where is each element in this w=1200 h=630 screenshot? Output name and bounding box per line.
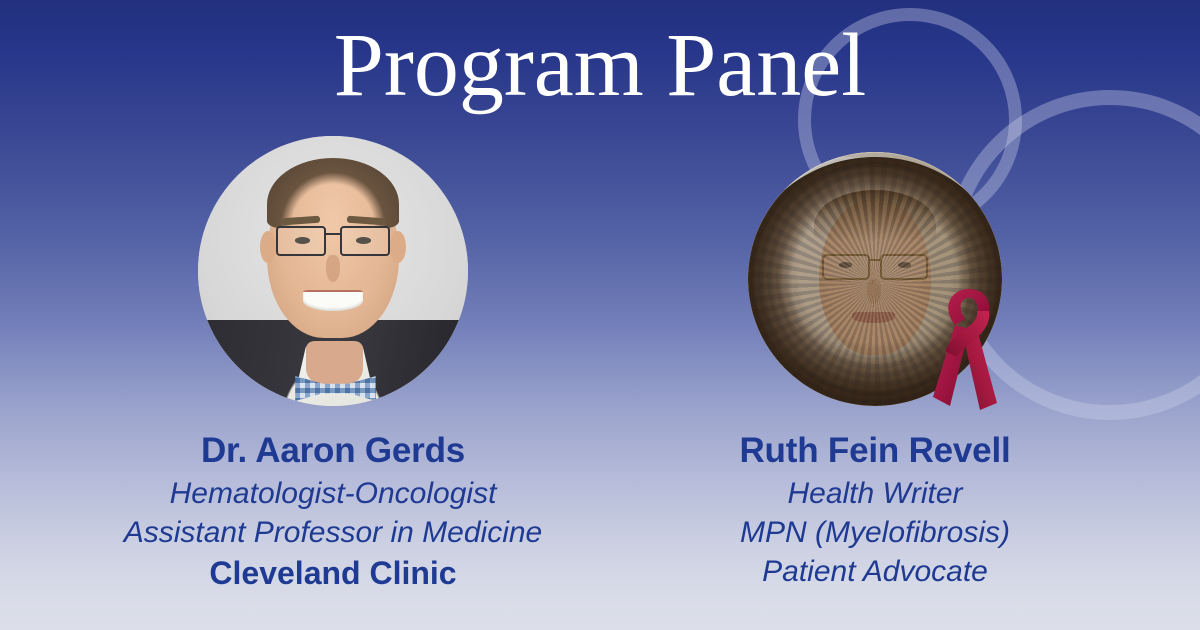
panelist-card-revell: Ruth Fein Revell Health Writer MPN (Myel… [600,152,1150,591]
panelist-role-line-1-gerds: Hematologist-Oncologist [48,474,618,513]
panelist-role-line-3-revell: Patient Advocate [600,552,1150,591]
glasses-bridge-shape [326,233,340,236]
curly-hair-texture [748,152,1002,406]
nose-shape [326,255,340,282]
panelist-affiliation-gerds: Cleveland Clinic [48,552,618,594]
panelist-name-gerds: Dr. Aaron Gerds [48,428,618,474]
program-panel-banner: Program Panel [0,0,1200,630]
mouth-shape [303,290,362,311]
avatar-gerds [198,136,468,406]
neck-shape [306,341,363,387]
eyeglasses-shape [276,226,389,256]
panelist-name-revell: Ruth Fein Revell [600,428,1150,474]
panelist-role-line-2-gerds: Assistant Professor in Medicine [48,513,618,552]
avatar-revell [748,152,1002,406]
lens-right-shape [340,226,390,256]
avatar-wrap-revell [748,152,1002,406]
page-title: Program Panel [0,14,1200,118]
panelist-role-line-2-revell: MPN (Myelofibrosis) [600,513,1150,552]
avatar-wrap-gerds [198,136,468,406]
panelist-card-gerds: Dr. Aaron Gerds Hematologist-Oncologist … [48,136,618,594]
ear-right-shape [390,231,406,263]
lens-left-shape [276,226,326,256]
panelist-role-line-1-revell: Health Writer [600,474,1150,513]
